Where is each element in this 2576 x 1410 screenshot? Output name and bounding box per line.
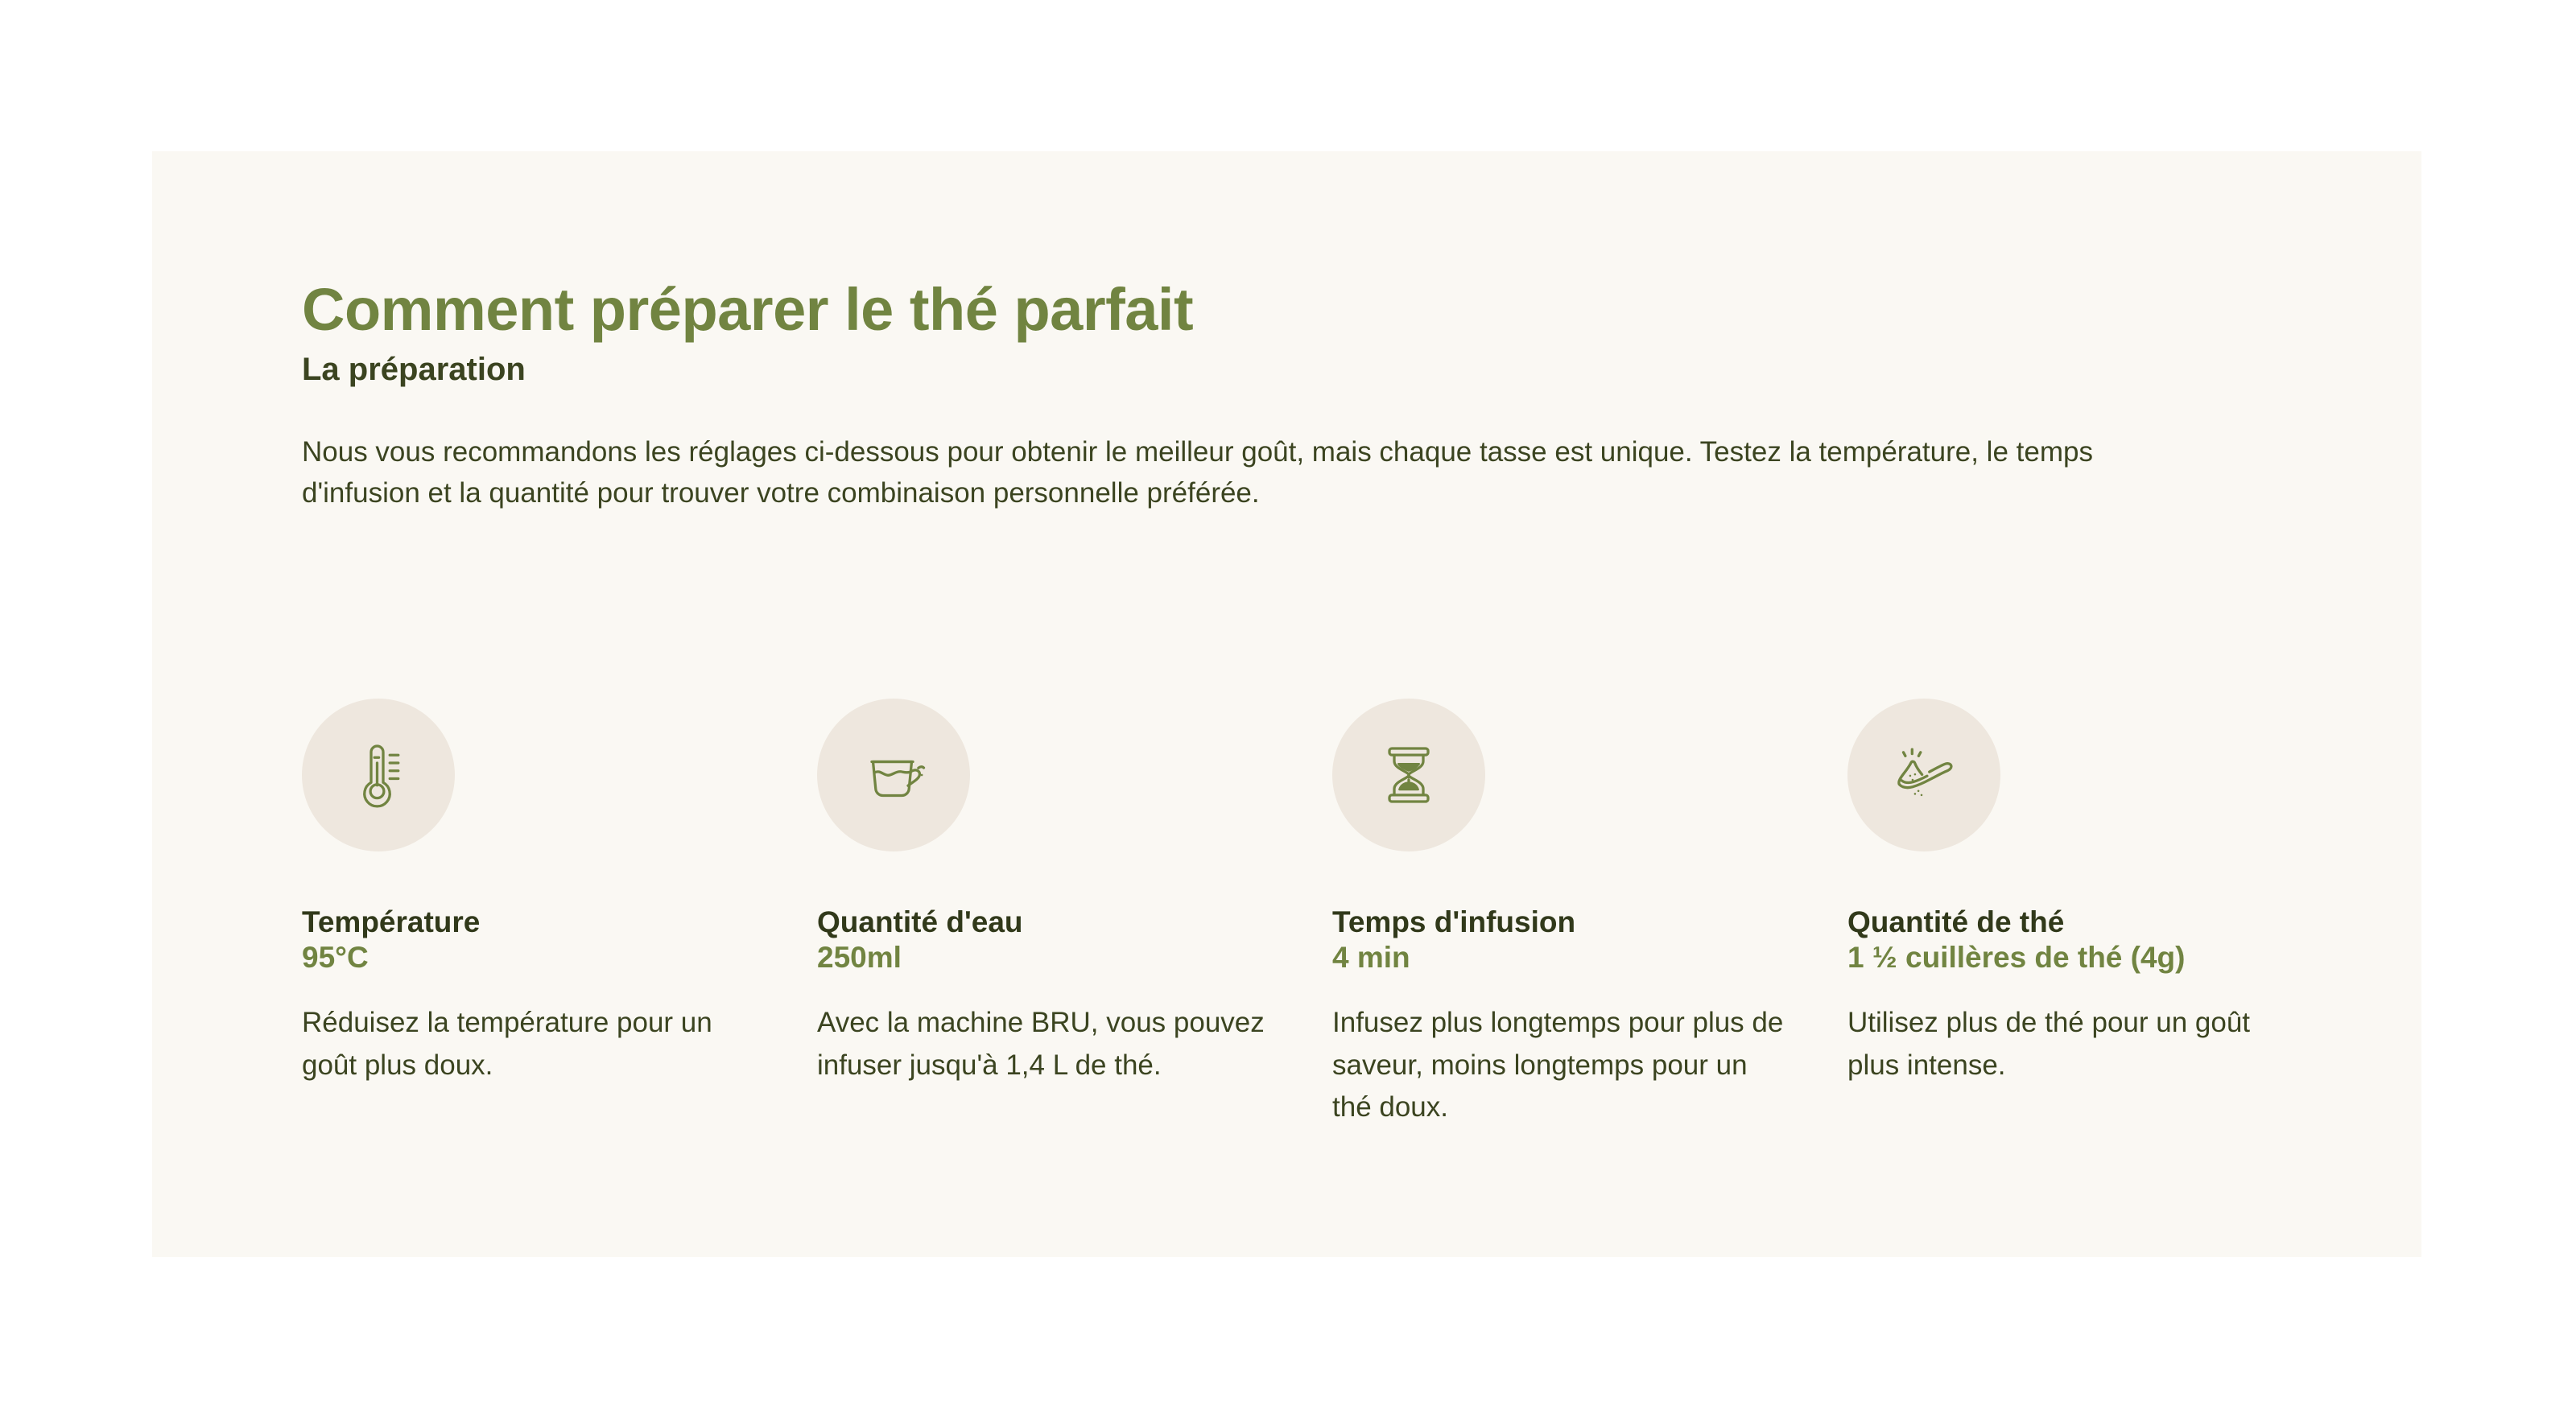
column-value: 4 min [1332, 940, 1791, 975]
tea-cup-icon [855, 736, 932, 814]
page-title: Comment préparer le thé parfait [302, 280, 2314, 340]
thermometer-icon [340, 736, 417, 814]
intro-paragraph: Nous vous recommandons les réglages ci-d… [302, 431, 2210, 514]
prep-column-temperature: Température 95°C Réduisez la température… [302, 699, 817, 1129]
card-header-block: Comment préparer le thé parfait La prépa… [302, 280, 2314, 514]
icon-circle-tea-quantity [1847, 699, 2000, 851]
column-label: Température [302, 905, 761, 940]
column-value: 1 ½ cuillères de thé (4g) [1847, 940, 2306, 975]
icon-circle-water-quantity [817, 699, 970, 851]
preparation-columns: Température 95°C Réduisez la température… [302, 699, 2363, 1129]
column-value: 250ml [817, 940, 1276, 975]
prep-column-water-quantity: Quantité d'eau 250ml Avec la machine BRU… [817, 699, 1332, 1129]
preparation-card: Comment préparer le thé parfait La prépa… [152, 151, 2421, 1257]
column-description: Réduisez la température pour un goût plu… [302, 1002, 761, 1086]
column-label: Temps d'infusion [1332, 905, 1791, 940]
column-label: Quantité d'eau [817, 905, 1276, 940]
tea-scoop-icon [1885, 736, 1963, 814]
icon-circle-steep-time [1332, 699, 1485, 851]
prep-column-steep-time: Temps d'infusion 4 min Infusez plus long… [1332, 699, 1847, 1129]
column-value: 95°C [302, 940, 761, 975]
page-subtitle: La préparation [302, 351, 2314, 388]
icon-circle-temperature [302, 699, 455, 851]
column-description: Infusez plus longtemps pour plus de save… [1332, 1002, 1791, 1129]
column-description: Utilisez plus de thé pour un goût plus i… [1847, 1002, 2306, 1086]
prep-column-tea-quantity: Quantité de thé 1 ½ cuillères de thé (4g… [1847, 699, 2363, 1129]
hourglass-icon [1370, 736, 1447, 814]
column-label: Quantité de thé [1847, 905, 2306, 940]
page-root: Comment préparer le thé parfait La prépa… [0, 0, 2576, 1410]
column-description: Avec la machine BRU, vous pouvez infuser… [817, 1002, 1276, 1086]
